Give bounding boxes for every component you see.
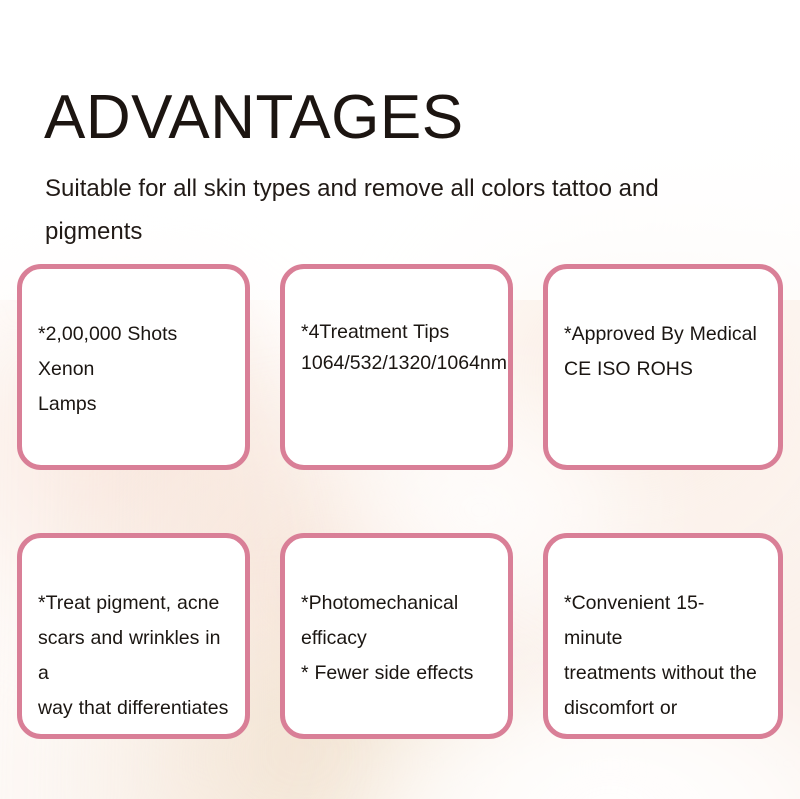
advantage-card: *Treat pigment, acne scars and wrinkles … (17, 533, 250, 739)
advantage-card: *4Treatment Tips 1064/532/1320/1064nm (280, 264, 513, 470)
advantage-card: *Convenient 15-minute treatments without… (543, 533, 783, 739)
advantage-card-text: *Photomechanical efficacy * Fewer side e… (301, 586, 492, 691)
advantage-card-text: *Convenient 15-minute treatments without… (564, 586, 762, 726)
advantage-card-text: *Approved By Medical CE ISO ROHS (564, 317, 762, 387)
page-title: ADVANTAGES (44, 84, 464, 152)
advantage-card: *Photomechanical efficacy * Fewer side e… (280, 533, 513, 739)
advantages-banner: ADVANTAGES Suitable for all skin types a… (0, 0, 800, 799)
advantage-card-grid: *2,00,000 Shots Xenon Lamps *4Treatment … (17, 264, 783, 739)
advantage-card-text: *Treat pigment, acne scars and wrinkles … (38, 586, 229, 739)
page-subtitle: Suitable for all skin types and remove a… (45, 167, 735, 253)
advantage-card-text: *4Treatment Tips 1064/532/1320/1064nm (301, 317, 492, 379)
advantage-card: *2,00,000 Shots Xenon Lamps (17, 264, 250, 470)
advantage-card: *Approved By Medical CE ISO ROHS (543, 264, 783, 470)
content-layer: ADVANTAGES Suitable for all skin types a… (0, 0, 800, 799)
advantage-card-text: *2,00,000 Shots Xenon Lamps (38, 317, 229, 422)
